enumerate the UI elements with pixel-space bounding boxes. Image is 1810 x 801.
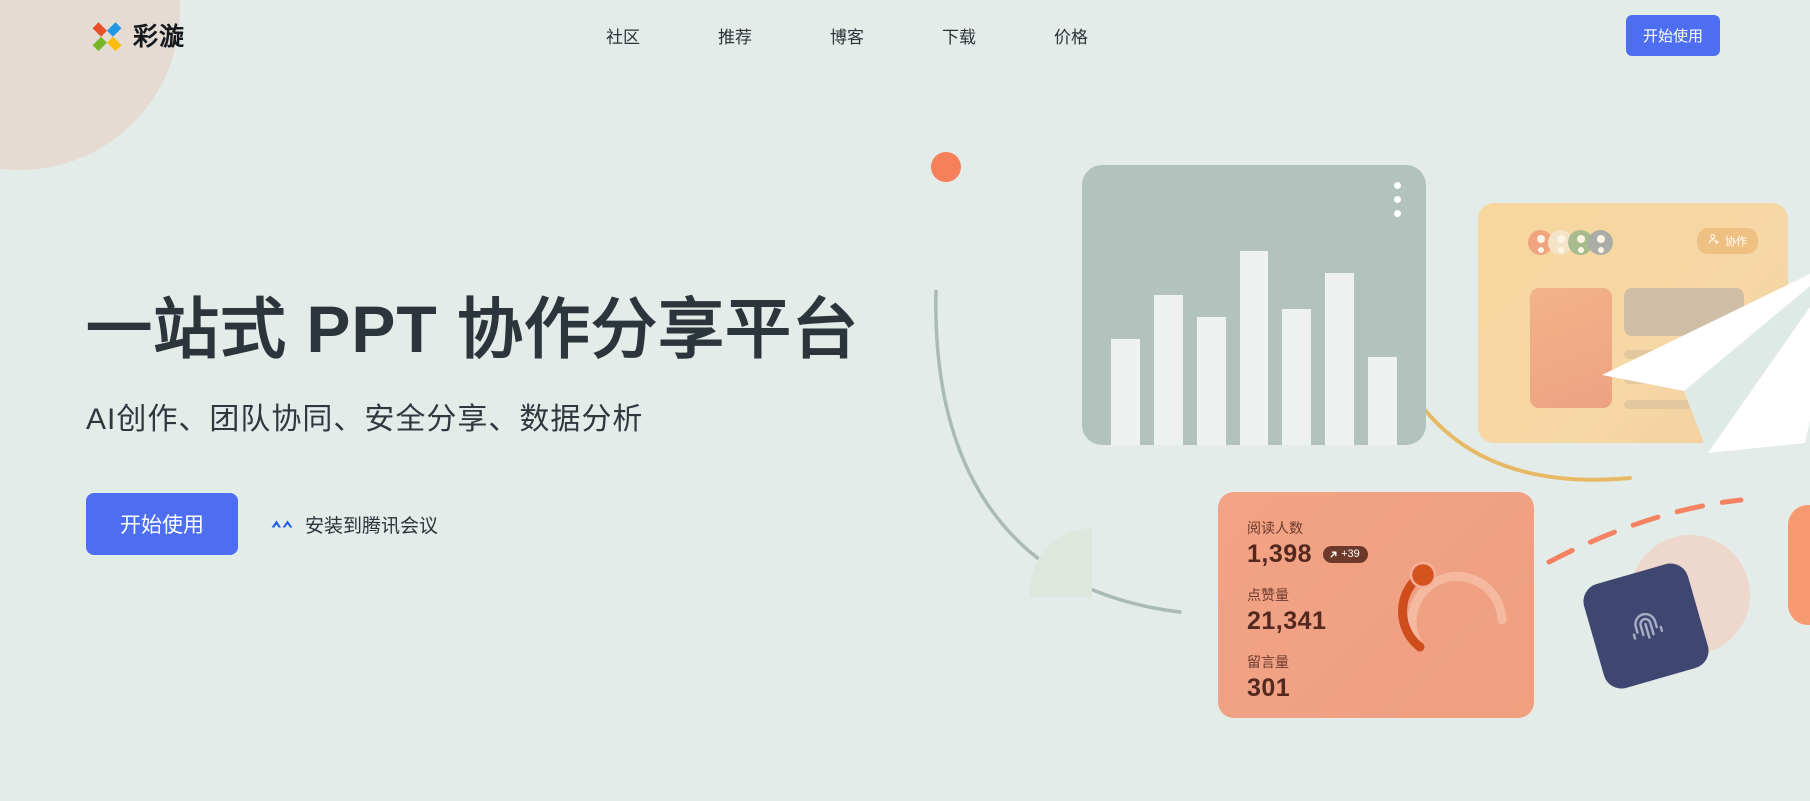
chart-bars [1111, 225, 1397, 445]
collaborate-button-label: 协作 [1725, 233, 1747, 249]
chart-bar [1197, 317, 1226, 445]
page-subtitle: AI创作、团队协同、安全分享、数据分析 [86, 394, 859, 438]
chart-bar [1368, 357, 1397, 445]
install-tencent-meeting-link[interactable]: 安装到腾讯会议 [270, 511, 438, 538]
nav-item-download[interactable]: 下载 [903, 23, 1015, 48]
stat-value: 301 [1247, 674, 1290, 703]
leaf-quarter-shape [1030, 528, 1092, 598]
chart-bar [1282, 309, 1311, 445]
nav-item-blog[interactable]: 博客 [791, 23, 903, 48]
hero-get-started-button[interactable]: 开始使用 [86, 493, 238, 555]
stat-label: 阅读人数 [1247, 518, 1368, 538]
orange-dot-shape [931, 152, 961, 182]
hero-content: 一站式 PPT 协作分享平台 AI创作、团队协同、安全分享、数据分析 开始使用 … [86, 295, 859, 555]
collaborate-button[interactable]: 协作 [1697, 228, 1758, 254]
chart-card [1082, 165, 1426, 445]
trend-up-arrow-icon [1329, 550, 1338, 559]
colorful-x-logo-icon [90, 18, 124, 52]
more-dot [1394, 210, 1401, 217]
avatar-stack [1528, 230, 1613, 255]
status-badge-label: +39 [1341, 548, 1360, 560]
site-header: 彩漩 社区 推荐 博客 下载 价格 开始使用 [0, 0, 1810, 70]
status-badge: +39 [1323, 546, 1368, 563]
install-tencent-meeting-label: 安装到腾讯会议 [305, 511, 438, 538]
right-edge-blob-shape [1788, 505, 1810, 625]
chart-bar [1111, 339, 1140, 445]
tencent-meeting-icon [270, 512, 294, 536]
main-navigation: 社区 推荐 博客 下载 价格 [567, 23, 1127, 48]
add-person-icon [1708, 232, 1720, 250]
avatar [1588, 230, 1613, 255]
chart-bar [1240, 251, 1269, 445]
stat-value-row: 301 [1247, 674, 1368, 703]
nav-item-recommend[interactable]: 推荐 [679, 23, 791, 48]
stat-label: 点赞量 [1247, 585, 1368, 605]
more-vertical-icon[interactable] [1394, 182, 1401, 217]
paper-plane-icon [1600, 255, 1810, 455]
page-title: 一站式 PPT 协作分享平台 [86, 295, 859, 364]
hero-cta-row: 开始使用 安装到腾讯会议 [86, 493, 859, 555]
nav-item-community[interactable]: 社区 [567, 23, 679, 48]
stat-value: 21,341 [1247, 607, 1326, 636]
security-tile [1579, 559, 1713, 693]
chart-bar [1325, 273, 1354, 445]
stat-item-readers: 阅读人数 1,398 +39 [1247, 518, 1368, 569]
stat-value: 1,398 [1247, 540, 1312, 569]
brand-logo-link[interactable]: 彩漩 [90, 17, 185, 53]
stats-list: 阅读人数 1,398 +39 点赞量 21,341 [1247, 518, 1368, 719]
coral-dashed-curve-shape [1545, 480, 1745, 570]
stat-item-likes: 点赞量 21,341 [1247, 585, 1368, 636]
brand-name: 彩漩 [133, 17, 185, 53]
more-dot [1394, 182, 1401, 189]
nav-item-pricing[interactable]: 价格 [1015, 23, 1127, 48]
stats-card: 阅读人数 1,398 +39 点赞量 21,341 [1218, 492, 1534, 718]
stat-label: 留言量 [1247, 652, 1368, 672]
fingerprint-icon [1616, 594, 1677, 658]
stat-value-row: 1,398 +39 [1247, 540, 1368, 569]
more-dot [1394, 196, 1401, 203]
stat-value-row: 21,341 [1247, 607, 1368, 636]
stat-item-comments: 留言量 301 [1247, 652, 1368, 703]
chart-bar [1154, 295, 1183, 445]
progress-gauge-icon [1390, 540, 1520, 670]
header-get-started-button[interactable]: 开始使用 [1626, 15, 1720, 56]
